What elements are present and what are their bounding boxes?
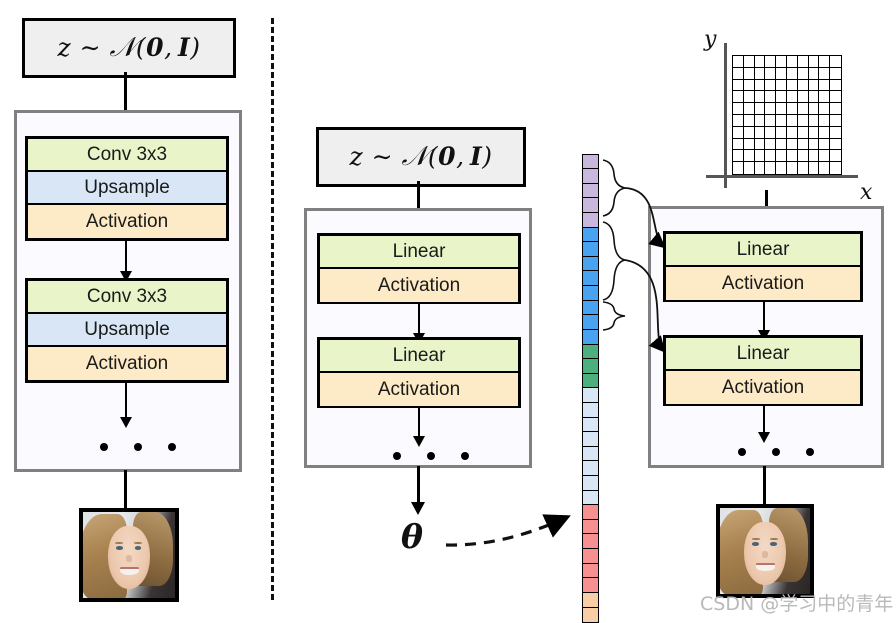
middle-theta-arrowhead <box>411 502 425 515</box>
grid-cell <box>809 80 820 92</box>
grid-cell <box>744 91 755 103</box>
grid-cell <box>787 68 798 80</box>
grid-cell <box>733 68 744 80</box>
grid-cell <box>787 162 798 174</box>
param-cell <box>582 504 599 520</box>
grid-cell <box>744 127 755 139</box>
param-cell <box>582 607 599 623</box>
param-vector <box>582 155 599 623</box>
grid-cell <box>819 115 830 127</box>
param-cell <box>582 475 599 491</box>
grid-cell <box>798 80 809 92</box>
param-cell <box>582 256 599 272</box>
param-cell <box>582 241 599 257</box>
grid-cell <box>765 80 776 92</box>
grid-cell <box>830 103 841 115</box>
grid-cell <box>744 115 755 127</box>
param-cell <box>582 168 599 184</box>
grid-cell <box>776 103 787 115</box>
layer-linear: Linear <box>666 338 860 371</box>
grid-cell <box>776 162 787 174</box>
grid-cell <box>830 91 841 103</box>
grid-cell <box>809 68 820 80</box>
grid-cell <box>733 115 744 127</box>
grid-cell <box>809 162 820 174</box>
x-axis <box>706 175 858 178</box>
grid-cell <box>733 127 744 139</box>
grid-cell <box>744 162 755 174</box>
grid-cell <box>798 150 809 162</box>
grid-cell <box>776 68 787 80</box>
grid-cell <box>744 150 755 162</box>
layer-upsample: Upsample <box>28 172 226 205</box>
grid-cell <box>733 162 744 174</box>
grid-cell <box>787 127 798 139</box>
param-cell <box>582 533 599 549</box>
param-cell <box>582 387 599 403</box>
param-cell <box>582 519 599 535</box>
grid-cell <box>809 115 820 127</box>
grid-cell <box>830 56 841 68</box>
param-cell <box>582 490 599 506</box>
left-block2-to-dots-arrow <box>125 383 127 421</box>
grid-cell <box>809 56 820 68</box>
y-axis <box>724 43 727 188</box>
grid-square <box>732 55 842 175</box>
grid-cell <box>733 150 744 162</box>
grid-cell <box>765 162 776 174</box>
param-cell <box>582 358 599 374</box>
left-ellipsis <box>100 443 176 451</box>
middle-block2-arrowhead <box>413 436 425 447</box>
left-block-to-output-arrow <box>124 470 127 512</box>
grid-cell <box>733 103 744 115</box>
param-cell <box>582 592 599 608</box>
grid-cell <box>798 68 809 80</box>
param-cell <box>582 314 599 330</box>
middle-latent-box: z ∼ 𝒩(0, I) <box>316 127 526 187</box>
layer-conv: Conv 3x3 <box>28 139 226 172</box>
middle-block-to-theta-arrow <box>417 466 420 506</box>
grid-cell <box>787 139 798 151</box>
layer-linear: Linear <box>320 236 518 269</box>
layer-activation: Activation <box>28 347 226 380</box>
grid-cell <box>776 80 787 92</box>
middle-latent-formula: z ∼ 𝒩(0, I) <box>350 141 493 173</box>
grid-cell <box>798 162 809 174</box>
right-block-2: Linear Activation <box>663 335 863 406</box>
grid-cell <box>776 150 787 162</box>
grid-cell <box>765 68 776 80</box>
param-cell <box>582 212 599 228</box>
grid-cell <box>776 127 787 139</box>
param-cell <box>582 197 599 213</box>
param-cell <box>582 577 599 593</box>
grid-cell <box>819 68 830 80</box>
layer-activation: Activation <box>28 205 226 238</box>
grid-cell <box>755 80 766 92</box>
grid-cell <box>819 80 830 92</box>
layer-upsample: Upsample <box>28 314 226 347</box>
param-cell <box>582 285 599 301</box>
grid-cell <box>765 115 776 127</box>
grid-cell <box>798 127 809 139</box>
grid-cell <box>787 80 798 92</box>
grid-cell <box>787 150 798 162</box>
grid-cell <box>776 56 787 68</box>
grid-cell <box>765 103 776 115</box>
param-cell <box>582 154 599 170</box>
param-cell <box>582 329 599 345</box>
param-cell <box>582 270 599 286</box>
grid-cell <box>755 103 766 115</box>
grid-cell <box>765 56 776 68</box>
grid-cell <box>776 91 787 103</box>
grid-cell <box>819 139 830 151</box>
grid-cell <box>765 150 776 162</box>
param-cell <box>582 548 599 564</box>
grid-cell <box>744 103 755 115</box>
grid-cell <box>798 103 809 115</box>
grid-cell <box>776 115 787 127</box>
layer-linear: Linear <box>666 234 860 267</box>
middle-block-2: Linear Activation <box>317 337 521 408</box>
grid-cell <box>819 127 830 139</box>
param-cell <box>582 183 599 199</box>
grid-cell <box>787 115 798 127</box>
left-block-2: Conv 3x3 Upsample Activation <box>25 278 229 383</box>
left-block-1: Conv 3x3 Upsample Activation <box>25 136 229 241</box>
grid-cell <box>830 162 841 174</box>
grid-cell <box>755 115 766 127</box>
param-cell <box>582 300 599 316</box>
grid-cell <box>798 115 809 127</box>
param-cell <box>582 563 599 579</box>
grid-cell <box>733 80 744 92</box>
brace-group-1 <box>603 160 625 216</box>
grid-cell <box>744 139 755 151</box>
param-cell <box>582 431 599 447</box>
layer-activation: Activation <box>320 373 518 406</box>
right-block-to-output-arrow <box>763 466 766 508</box>
coordinate-grid-plot: y x <box>700 35 880 195</box>
grid-cell <box>733 139 744 151</box>
brace-group-2 <box>603 222 625 300</box>
grid-cell <box>776 139 787 151</box>
param-cell <box>582 344 599 360</box>
param-cell <box>582 460 599 476</box>
grid-cell <box>765 127 776 139</box>
grid-cell <box>830 139 841 151</box>
middle-block-1: Linear Activation <box>317 233 521 304</box>
grid-cell <box>809 139 820 151</box>
grid-cell <box>755 68 766 80</box>
grid-cell <box>744 56 755 68</box>
grid-cell <box>798 56 809 68</box>
grid-cell <box>787 91 798 103</box>
right-block2-arrowhead <box>758 432 770 443</box>
grid-cell <box>830 150 841 162</box>
param-cell <box>582 227 599 243</box>
grid-cell <box>755 127 766 139</box>
left-latent-box: z ∼ 𝒩(0, I) <box>22 18 236 78</box>
left-output-image <box>79 508 179 602</box>
grid-cell <box>765 91 776 103</box>
grid-cell <box>798 91 809 103</box>
panel-divider <box>271 18 274 600</box>
grid-cell <box>765 139 776 151</box>
layer-linear: Linear <box>320 340 518 373</box>
grid-cell <box>819 150 830 162</box>
param-cell <box>582 402 599 418</box>
grid-cell <box>819 162 830 174</box>
watermark: CSDN @学习中的青年 <box>700 589 893 616</box>
grid-cell <box>809 103 820 115</box>
brace-group-3 <box>603 302 625 330</box>
grid-cell <box>744 80 755 92</box>
grid-cell <box>744 68 755 80</box>
grid-cell <box>755 91 766 103</box>
grid-cell <box>809 127 820 139</box>
layer-activation: Activation <box>666 267 860 300</box>
layer-conv: Conv 3x3 <box>28 281 226 314</box>
param-cell <box>582 373 599 389</box>
right-output-image <box>716 504 814 598</box>
grid-cell <box>819 91 830 103</box>
right-ellipsis <box>738 448 814 456</box>
grid-cell <box>819 56 830 68</box>
grid-cell <box>787 103 798 115</box>
grid-cell <box>755 56 766 68</box>
grid-cell <box>733 56 744 68</box>
grid-cell <box>830 115 841 127</box>
grid-cell <box>733 91 744 103</box>
grid-cell <box>755 150 766 162</box>
x-axis-label: x <box>860 180 872 205</box>
right-block-1: Linear Activation <box>663 231 863 302</box>
grid-cell <box>809 91 820 103</box>
left-block2-arrowhead <box>120 417 132 428</box>
grid-cell <box>755 139 766 151</box>
grid-cell <box>830 68 841 80</box>
grid-cell <box>830 80 841 92</box>
layer-activation: Activation <box>320 269 518 302</box>
left-latent-formula: z ∼ 𝒩(0, I) <box>58 32 201 64</box>
grid-cell <box>798 139 809 151</box>
grid-cell <box>787 56 798 68</box>
grid-cell <box>809 150 820 162</box>
param-cell <box>582 446 599 462</box>
grid-cell <box>755 162 766 174</box>
left-block1-to-block2-arrow <box>125 241 127 275</box>
theta-symbol: θ <box>401 517 423 556</box>
grid-cell <box>830 127 841 139</box>
diagram-canvas: z ∼ 𝒩(0, I) Conv 3x3 Upsample Activation… <box>0 0 896 621</box>
theta-to-weights-dashed-arrow <box>446 518 565 545</box>
y-axis-label: y <box>704 27 716 52</box>
middle-ellipsis <box>393 452 469 460</box>
grid-cell <box>819 103 830 115</box>
param-cell <box>582 417 599 433</box>
layer-activation: Activation <box>666 371 860 404</box>
